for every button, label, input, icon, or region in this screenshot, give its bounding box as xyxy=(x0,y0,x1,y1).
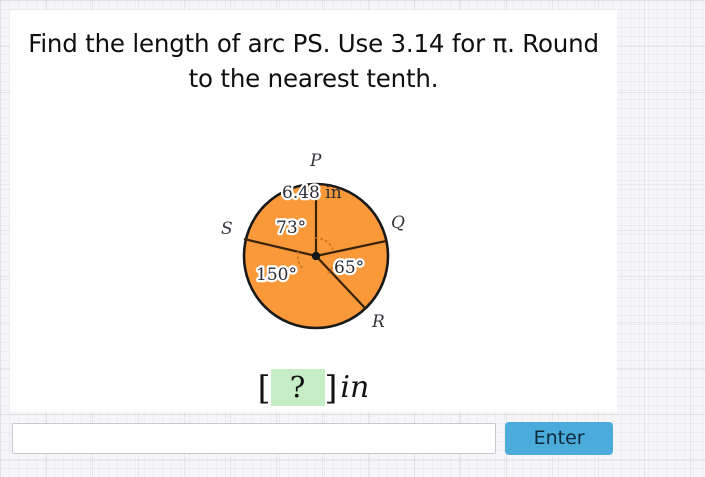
answer-placeholder: [?]in xyxy=(10,368,617,407)
question-card: Find the length of arc PS. Use 3.14 for … xyxy=(10,10,617,412)
answer-input[interactable] xyxy=(12,423,496,454)
circle-diagram: 6.48 6.48 in 73° 73° 150° 150° 65° 65° P… xyxy=(10,128,617,358)
bracket-close: ] xyxy=(325,368,338,407)
circle-figure-svg: 6.48 6.48 in 73° 73° 150° 150° 65° 65° P… xyxy=(194,128,434,358)
vertex-label-p: P xyxy=(309,151,322,171)
angle-qor-label: 65° xyxy=(334,258,364,278)
answer-row: Enter xyxy=(12,422,613,455)
question-text: Find the length of arc PS. Use 3.14 for … xyxy=(22,26,605,96)
angle-sop-label: 73° xyxy=(276,218,306,238)
radius-label-value: 6.48 in xyxy=(282,183,342,203)
vertex-label-s: S xyxy=(221,219,233,239)
angle-ros-label: 150° xyxy=(256,265,297,285)
answer-unit: in xyxy=(340,370,369,405)
bracket-open: [ xyxy=(258,368,271,407)
enter-button[interactable]: Enter xyxy=(505,422,613,455)
circle-center-point xyxy=(311,252,319,260)
vertex-label-r: R xyxy=(371,312,385,332)
answer-blank: ? xyxy=(271,369,325,406)
vertex-label-q: Q xyxy=(391,213,405,233)
